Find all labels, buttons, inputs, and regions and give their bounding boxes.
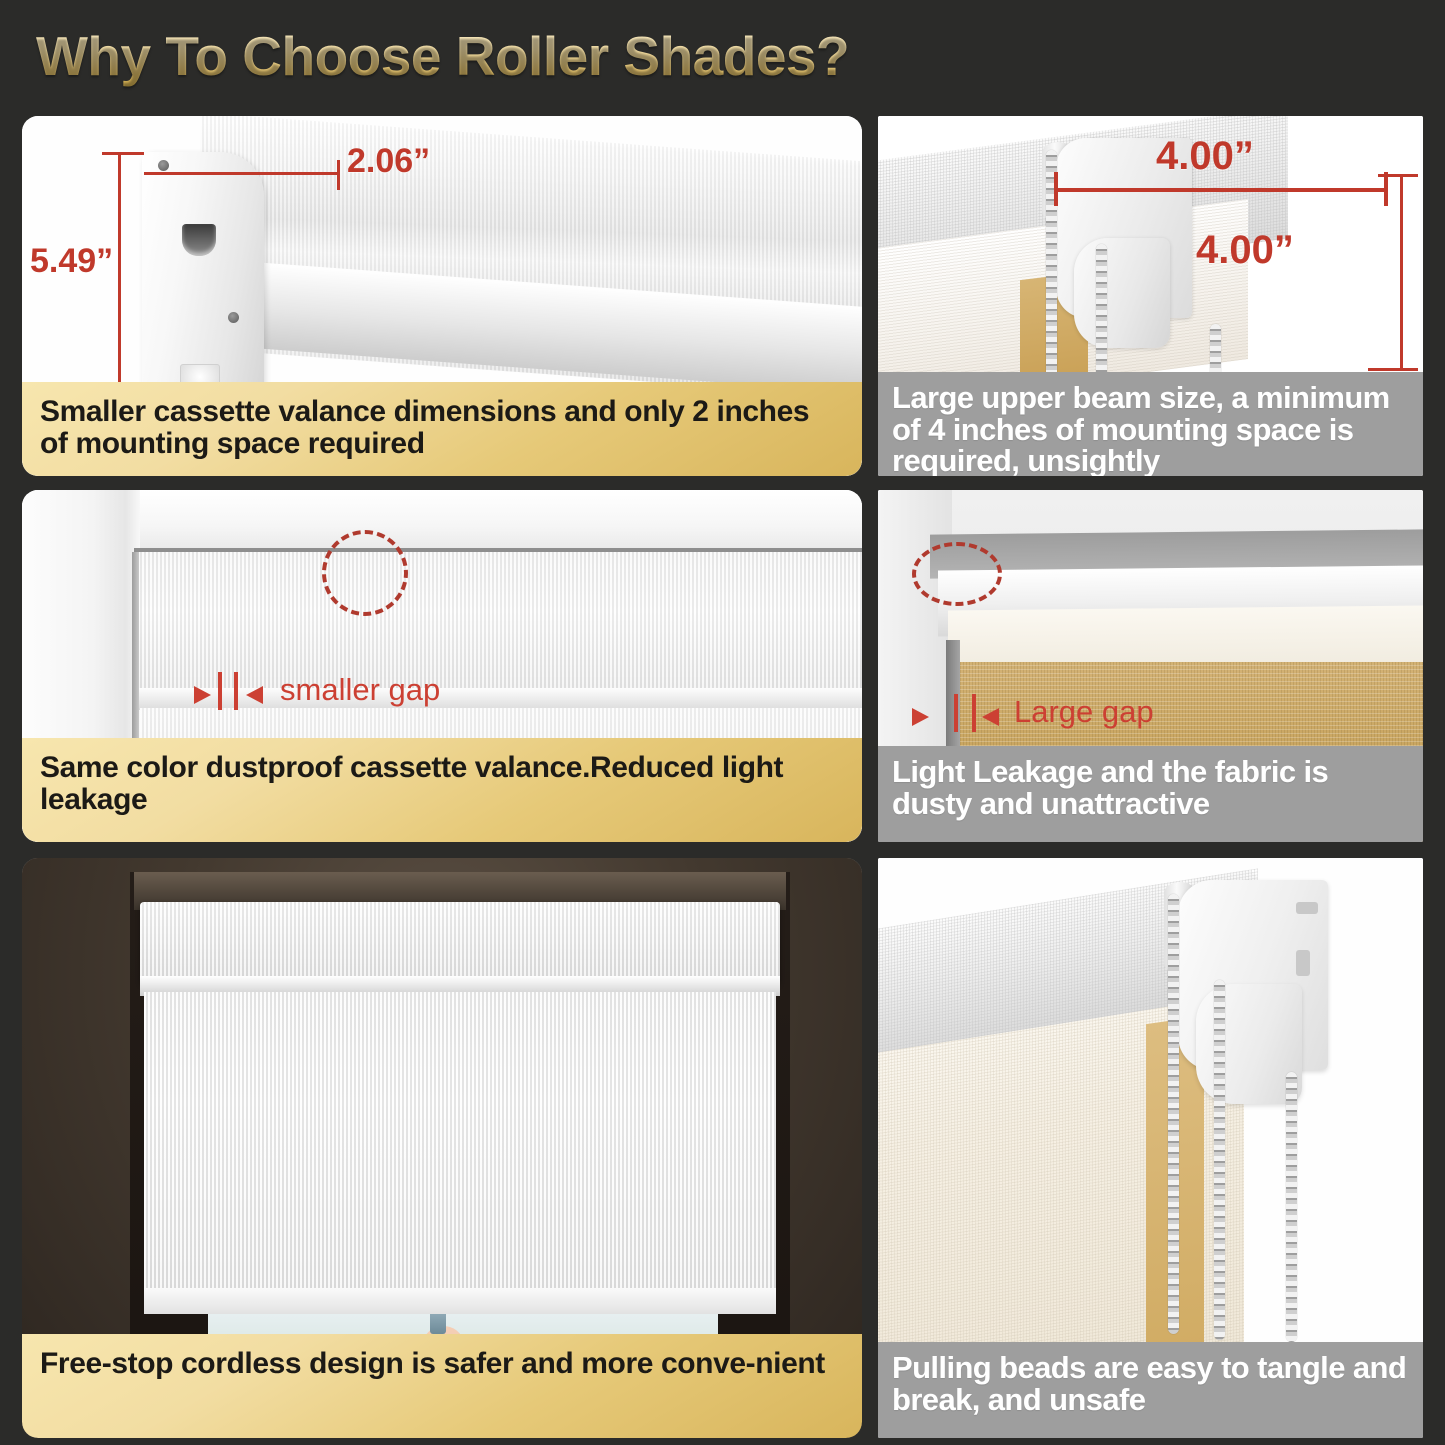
panel-bottom-left-caption: Free-stop cordless design is safer and m… [22,1334,862,1438]
height-dim-tick-top [1378,174,1418,177]
height-dimension-line [118,152,121,404]
gap-tick-left [954,694,958,732]
highlight-circle [912,542,1002,606]
panel-mid-left-caption: Same color dustproof cassette valance.Re… [22,738,862,842]
height-dimension-label: 5.49” [30,242,113,281]
header: Why To Choose Roller Shades? [0,0,1445,112]
panel-top-left: 5.49” 2.06” Smaller cassette valance dim… [22,116,862,476]
panel-top-right-caption: Large upper beam size, a minimum of 4 in… [878,372,1423,476]
gap-arrow-right [246,686,263,704]
caption-text: Smaller cassette valance dimensions and … [40,396,844,460]
width-dim-tick-left [1054,172,1058,206]
width-dim-tick-right [1384,172,1388,206]
panel-mid-left: smaller gap Same color dustproof cassett… [22,490,862,842]
bead-chain [1286,1072,1297,1342]
gap-tick-left [218,672,222,710]
caption-text: Large upper beam size, a minimum of 4 in… [892,382,1409,476]
caption-text: Light Leakage and the fabric is dusty an… [892,756,1409,819]
gap-tick-right [972,694,976,732]
comparison-grid: 5.49” 2.06” Smaller cassette valance dim… [0,112,1445,1445]
gap-tick-right [234,672,238,710]
bead-chain [1168,894,1179,1334]
panel-top-right: 4.00” 4.00” Large upper beam size, a min… [878,116,1423,476]
gap-label: smaller gap [280,672,440,708]
width-dimension-label: 4.00” [1156,134,1254,179]
height-dim-tick-top [102,152,144,155]
panel-bottom-right-caption: Pulling beads are easy to tangle and bre… [878,1342,1423,1438]
width-dimension-line [1054,188,1388,192]
panel-mid-right: Large gap Light Leakage and the fabric i… [878,490,1423,842]
depth-dimension-label: 2.06” [347,142,430,181]
gap-arrow-left [194,686,211,704]
caption-text: Pulling beads are easy to tangle and bre… [892,1352,1409,1415]
height-dim-tick-bottom [1368,368,1418,371]
gap-label: Large gap [1014,694,1154,730]
panel-bottom-left: Free-stop cordless design is safer and m… [22,858,862,1438]
depth-dimension-line [144,172,340,175]
page-title: Why To Choose Roller Shades? [36,24,849,88]
gap-arrow-right [982,708,999,726]
height-dimension-label: 4.00” [1196,228,1294,273]
depth-dim-tick-right [337,160,340,190]
panel-top-left-caption: Smaller cassette valance dimensions and … [22,382,862,476]
panel-bottom-right: Pulling beads are easy to tangle and bre… [878,858,1423,1438]
highlight-circle [322,530,408,616]
caption-text: Same color dustproof cassette valance.Re… [40,752,844,816]
bead-chain [1214,980,1225,1340]
panel-mid-right-caption: Light Leakage and the fabric is dusty an… [878,746,1423,842]
bead-chain [1096,244,1107,384]
gap-arrow-left [912,708,929,726]
height-dimension-line [1400,174,1403,370]
caption-text: Free-stop cordless design is safer and m… [40,1348,825,1380]
